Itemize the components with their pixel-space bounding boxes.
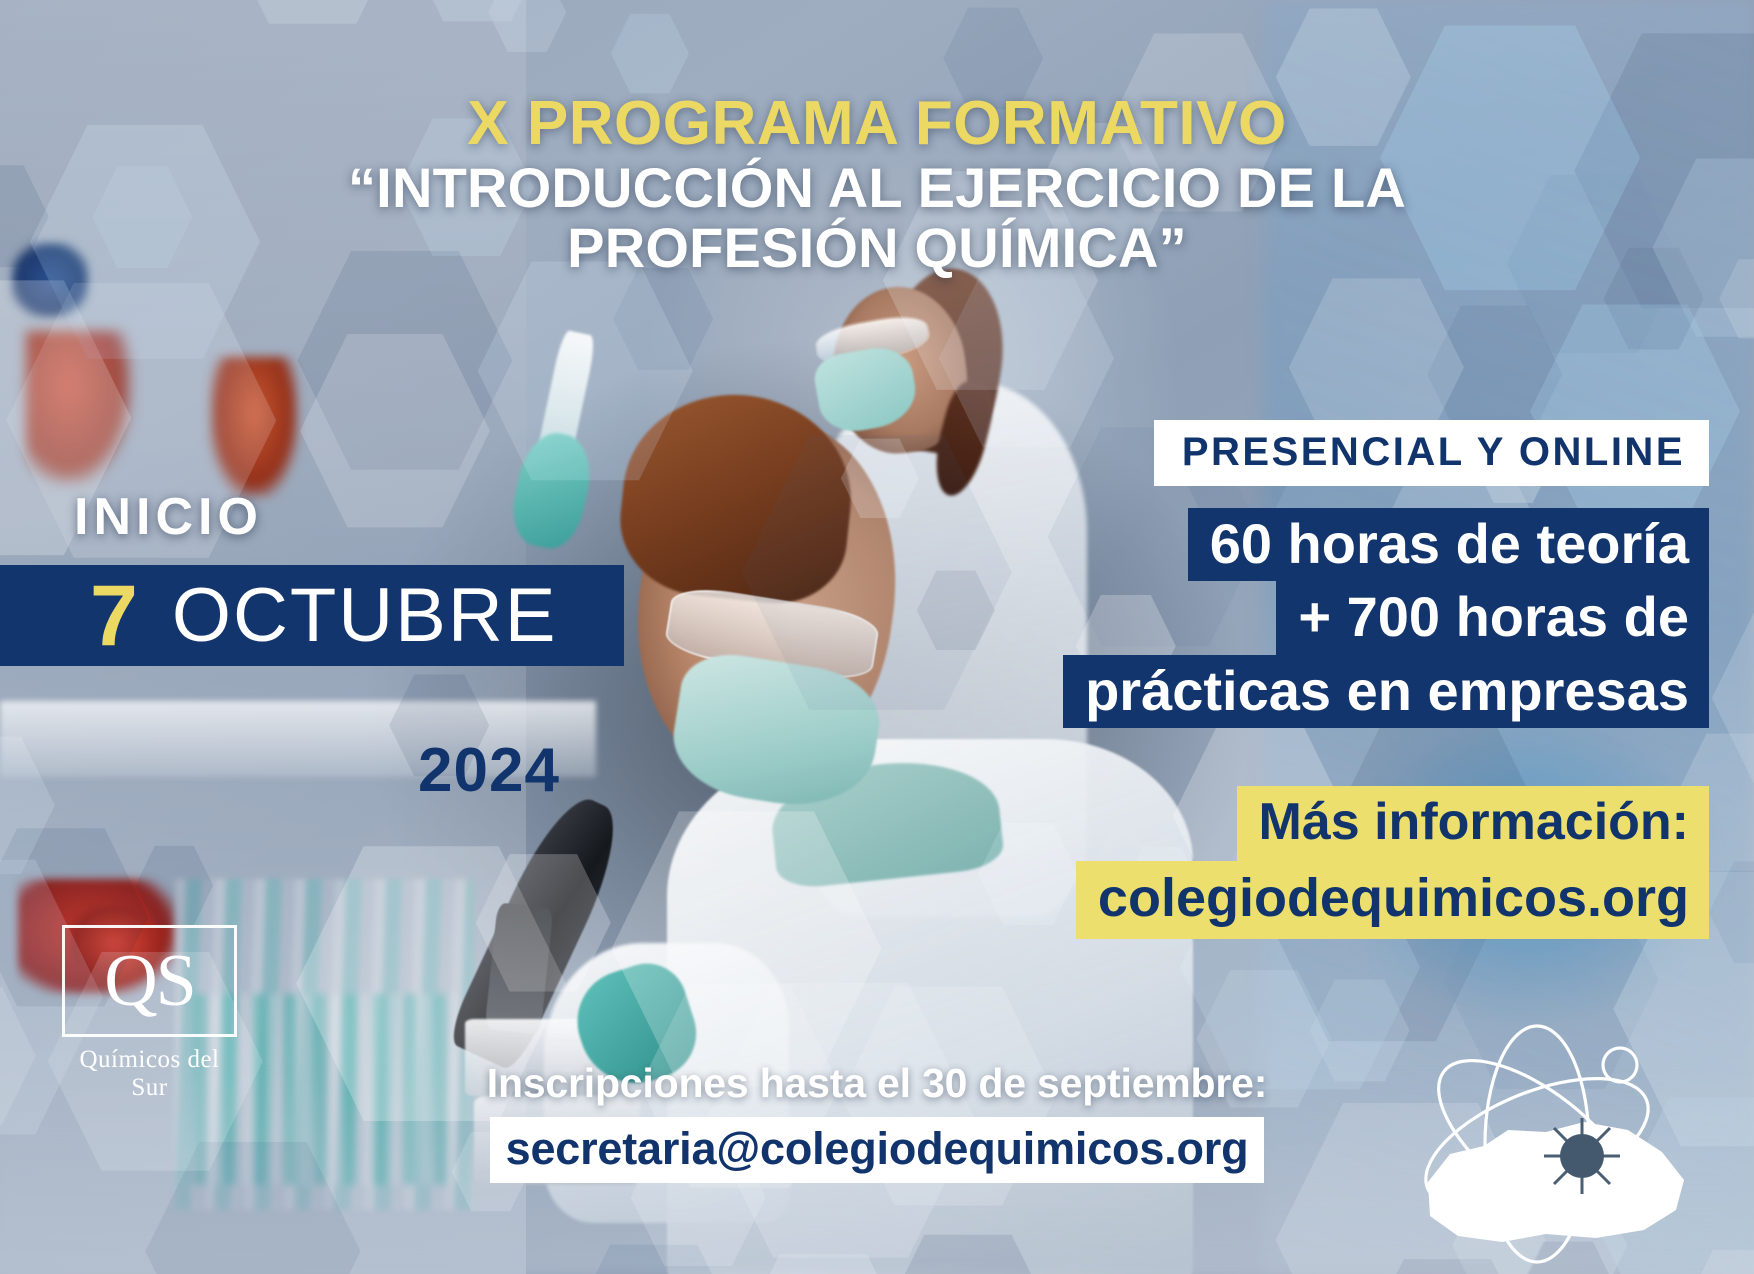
start-year: 2024 — [418, 735, 560, 806]
start-label: INICIO — [74, 487, 263, 547]
subtitle-line-1: “INTRODUCCIÓN AL EJERCICIO DE LA — [0, 158, 1754, 218]
subtitle-line-2: PROFESIÓN QUÍMICA” — [0, 218, 1754, 278]
modality-badge: PRESENCIAL Y ONLINE — [1154, 420, 1709, 486]
qs-logo: QS Químicos del Sur — [62, 925, 237, 1102]
hours-line-1: 60 horas de teoría — [1188, 508, 1709, 581]
registration-deadline: Inscripciones hasta el 30 de septiembre: — [487, 1060, 1267, 1107]
start-day: 7 — [90, 573, 138, 659]
registration-email[interactable]: secretaria@colegiodequimicos.org — [490, 1117, 1265, 1183]
page-subtitle: “INTRODUCCIÓN AL EJERCICIO DE LA PROFESI… — [0, 158, 1754, 279]
hours-block: 60 horas de teoría + 700 horas de prácti… — [1063, 508, 1709, 728]
more-info-label: Más información: — [1237, 786, 1710, 861]
poster: X PROGRAMA FORMATIVO “INTRODUCCIÓN AL EJ… — [0, 0, 1754, 1274]
hours-line-2: + 700 horas de — [1276, 581, 1709, 654]
hours-line-3: prácticas en empresas — [1063, 655, 1709, 728]
info-column: PRESENCIAL Y ONLINE 60 horas de teoría +… — [1009, 420, 1709, 939]
atom-andalusia-map-icon — [1332, 994, 1732, 1264]
start-month: OCTUBRE — [172, 578, 558, 654]
qs-logo-frame: QS — [62, 925, 237, 1037]
start-date-band: 7 OCTUBRE — [0, 565, 624, 666]
qs-monogram: QS — [104, 944, 195, 1018]
qs-logo-name: Químicos del Sur — [62, 1046, 237, 1102]
more-info-block: Más información: colegiodequimicos.org — [1076, 786, 1709, 939]
registration-block: Inscripciones hasta el 30 de septiembre:… — [327, 1060, 1427, 1183]
page-title: X PROGRAMA FORMATIVO — [0, 88, 1754, 159]
poster-content: X PROGRAMA FORMATIVO “INTRODUCCIÓN AL EJ… — [0, 0, 1754, 1274]
website-link[interactable]: colegiodequimicos.org — [1076, 861, 1709, 938]
